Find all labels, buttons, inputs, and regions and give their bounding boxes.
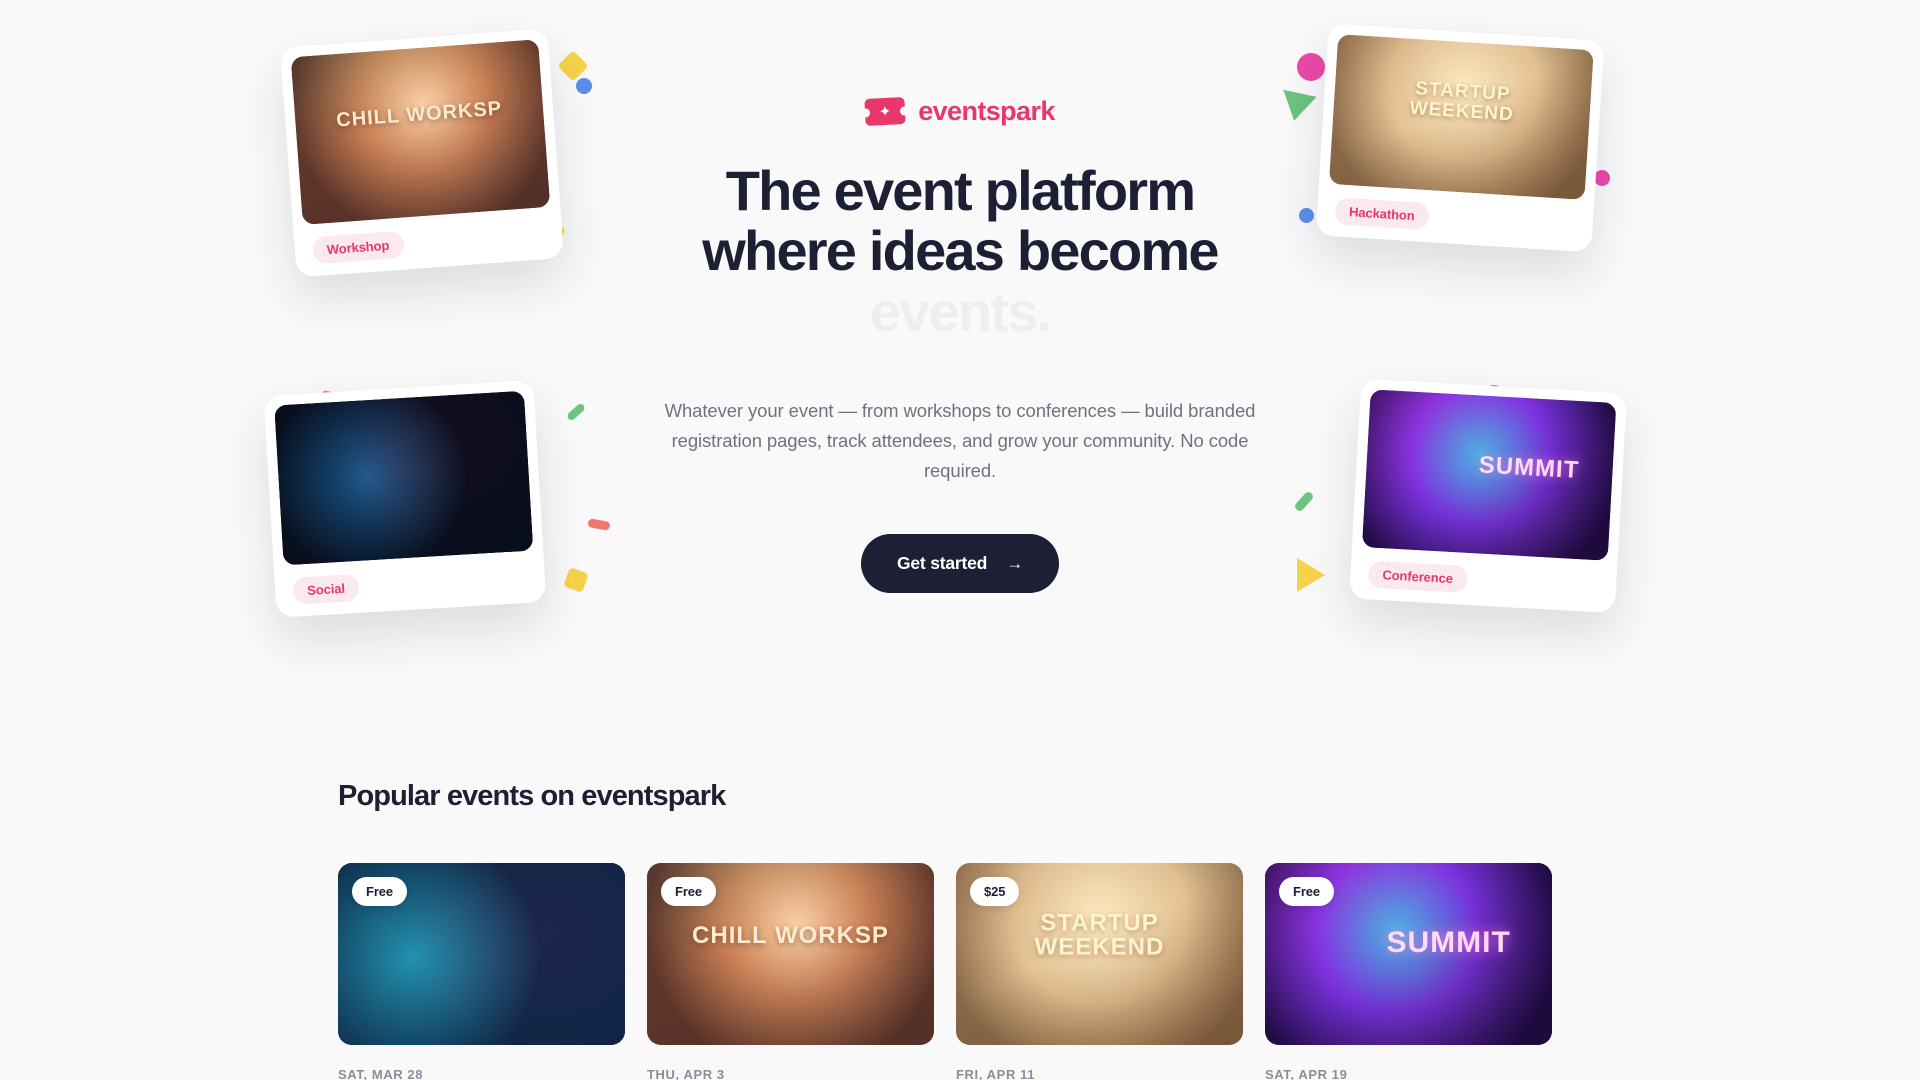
price-badge: $25 xyxy=(970,877,1019,906)
get-started-button[interactable]: Get started → xyxy=(861,534,1059,593)
headline-line-1: The event platform xyxy=(640,161,1280,221)
category-badge: Workshop xyxy=(312,230,404,264)
floating-card-photo: SUMMIT xyxy=(1362,389,1616,560)
decor-dot-magenta xyxy=(1297,53,1325,81)
arrow-right-icon: → xyxy=(1006,555,1023,572)
get-started-label: Get started xyxy=(897,553,987,574)
decor-slash-green-2 xyxy=(1293,490,1314,512)
price-badge: Free xyxy=(352,877,407,906)
decor-dot-blue-2 xyxy=(1299,208,1314,223)
event-card[interactable]: SUMMIT Free SAT, APR 19 Mixer di communi… xyxy=(1265,863,1552,1080)
event-thumbnail: CHILL WORKSP Free xyxy=(647,863,934,1045)
floating-card-photo: CHILL WORKSP xyxy=(291,39,551,225)
floating-card-photo: STARTUP WEEKEND xyxy=(1329,34,1594,200)
headline-line-3: events. xyxy=(640,282,1280,342)
event-thumbnail: Free xyxy=(338,863,625,1045)
decor-square-yellow xyxy=(557,50,588,81)
category-badge: Conference xyxy=(1368,560,1468,592)
hero-subtext: Whatever your event — from workshops to … xyxy=(640,396,1280,486)
event-card[interactable]: STARTUP WEEKEND $25 FRI, APR 11 Startup … xyxy=(956,863,1243,1080)
event-date: SAT, APR 19 xyxy=(1265,1067,1552,1080)
section-title: Popular events on eventspark xyxy=(338,780,1582,813)
brand-logo[interactable]: ✦ eventspark xyxy=(640,96,1280,127)
hero-content: ✦ eventspark The event platform where id… xyxy=(640,96,1280,593)
floating-card-conference[interactable]: SUMMIT Conference xyxy=(1349,379,1627,614)
decor-dot-pink-2 xyxy=(1594,170,1610,186)
event-card[interactable]: CHILL WORKSP Free THU, APR 3 Chill co-wo… xyxy=(647,863,934,1080)
event-card[interactable]: Free SAT, MAR 28 AI hackathon xyxy=(338,863,625,1080)
hero-section: CHILL WORKSP Workshop STARTUP WEEKEND Ha… xyxy=(0,0,1920,700)
price-badge: Free xyxy=(1279,877,1334,906)
decor-triangle-green-2 xyxy=(1277,90,1316,124)
sparkle-icon: ✦ xyxy=(877,104,893,120)
price-badge: Free xyxy=(661,877,716,906)
event-thumbnail: STARTUP WEEKEND $25 xyxy=(956,863,1243,1045)
event-thumbnail: SUMMIT Free xyxy=(1265,863,1552,1045)
decor-slash-green xyxy=(566,402,586,421)
landing-page: CHILL WORKSP Workshop STARTUP WEEKEND Ha… xyxy=(0,0,1920,1080)
floating-card-photo xyxy=(274,391,533,566)
decor-slash-coral xyxy=(587,518,610,531)
category-badge: Social xyxy=(292,573,359,604)
decor-dot-blue xyxy=(576,78,592,94)
decor-square-yellow-3 xyxy=(563,567,589,593)
brand-name: eventspark xyxy=(918,96,1055,127)
floating-card-social[interactable]: Social xyxy=(264,380,547,618)
event-date: THU, APR 3 xyxy=(647,1067,934,1080)
floating-card-workshop[interactable]: CHILL WORKSP Workshop xyxy=(280,28,564,277)
headline-line-2: where ideas become xyxy=(640,221,1280,281)
floating-card-hackathon[interactable]: STARTUP WEEKEND Hackathon xyxy=(1316,24,1605,253)
ticket-icon: ✦ xyxy=(865,97,906,126)
decor-triangle-yellow xyxy=(1297,558,1325,592)
page-title: The event platform where ideas become ev… xyxy=(640,161,1280,342)
event-grid: Free SAT, MAR 28 AI hackathon CHILL WORK… xyxy=(338,863,1582,1080)
category-badge: Hackathon xyxy=(1334,197,1429,230)
event-date: SAT, MAR 28 xyxy=(338,1067,625,1080)
event-date: FRI, APR 11 xyxy=(956,1067,1243,1080)
popular-events-section: Popular events on eventspark Free SAT, M… xyxy=(338,780,1582,1080)
